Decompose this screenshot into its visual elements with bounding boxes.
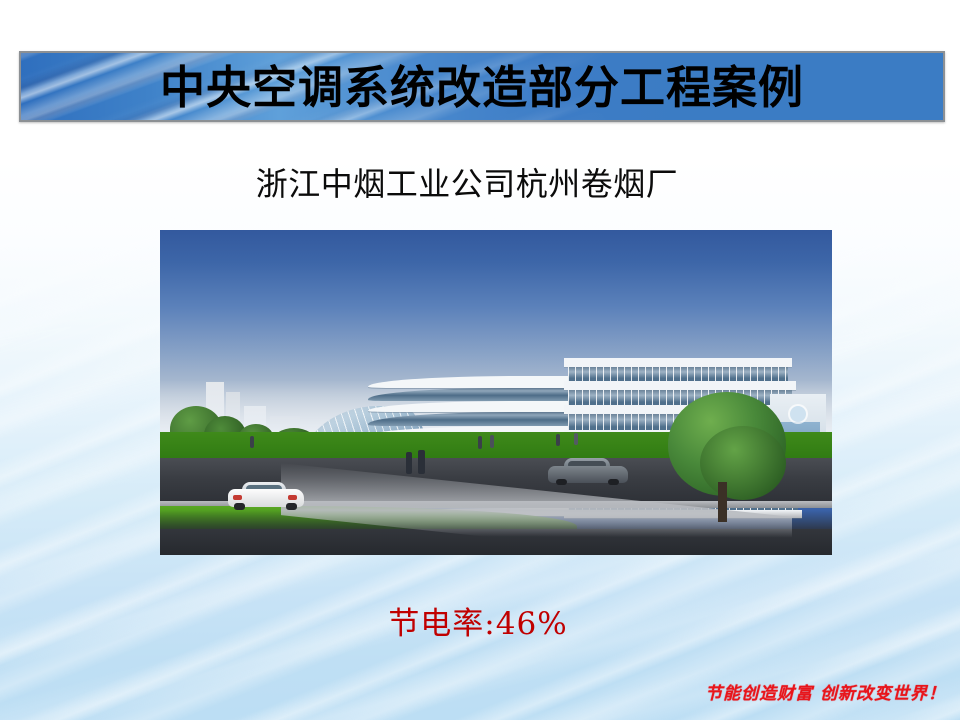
pedestrian — [556, 434, 560, 446]
white-car — [228, 482, 304, 508]
pedestrian — [478, 436, 482, 449]
dark-car — [548, 458, 628, 484]
pedestrian — [406, 452, 412, 474]
subtitle-company-name: 浙江中烟工业公司杭州卷烟厂 — [0, 165, 947, 203]
pedestrian — [574, 433, 578, 445]
large-tree-trunk — [718, 482, 727, 522]
building-rendering-photo — [160, 230, 832, 555]
pedestrian — [250, 436, 254, 448]
pedestrian — [418, 450, 425, 474]
large-tree-crown-lower — [700, 426, 786, 500]
presentation-slide: 中央空调系统改造部分工程案例 浙江中烟工业公司杭州卷烟厂 — [0, 0, 960, 720]
building-emblem — [790, 406, 806, 422]
page-title: 中央空调系统改造部分工程案例 — [160, 65, 804, 110]
pedestrian — [490, 435, 494, 448]
title-banner: 中央空调系统改造部分工程案例 — [19, 51, 945, 122]
energy-saving-rate: 节电率:46% — [0, 609, 958, 640]
footer-slogan: 节能创造财富 创新改变世界！ — [0, 686, 960, 703]
